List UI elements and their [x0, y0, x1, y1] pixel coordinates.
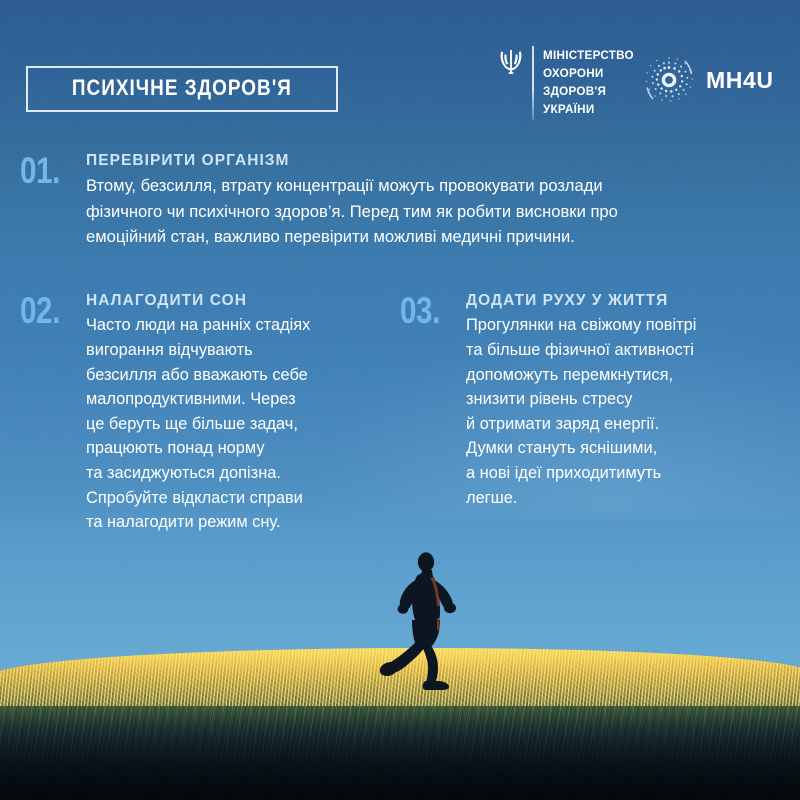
tip-02-line-3: безсилля або вважають себе [86, 363, 392, 388]
tip-03-line-8: легше. [466, 486, 780, 511]
tip-paragraph-01: Втому, безсилля, втрату концентрації мож… [86, 173, 780, 250]
tip-item-02: 02. НАЛАГОДИТИ СОН Часто люди на ранніх … [20, 292, 392, 535]
tip-03-line-4: знизити рівень стресу [466, 387, 780, 412]
tip-body-02: НАЛАГОДИТИ СОН Часто люди на ранніх стад… [86, 292, 392, 535]
tip-number-02: 02. [20, 294, 73, 328]
tip-heading-02: НАЛАГОДИТИ СОН [86, 292, 392, 310]
tip-02-line-8: Спробуйте відкласти справи [86, 486, 392, 511]
tip-02-line-2: вигорання відчувають [86, 338, 392, 363]
tip-03-line-5: й отримати заряд енергії. [466, 412, 780, 437]
tip-02-line-5: це беруть ще більше задач, [86, 412, 392, 437]
tip-02-line-9: та налагодити режим сну. [86, 510, 392, 535]
tip-03-line-1: Прогулянки на свіжому повітрі [466, 313, 780, 338]
tip-02-line-6: працюють понад норму [86, 436, 392, 461]
tip-01-line-3: емоційний стан, важливо перевірити можли… [86, 224, 780, 250]
tip-01-line-2: фізичного чи психічного здоров’я. Перед … [86, 199, 780, 225]
tip-03-line-3: допоможуть перемкнутися, [466, 363, 780, 388]
tip-paragraph-02: Часто люди на ранніх стадіях вигорання в… [86, 313, 392, 534]
tip-body-01: ПЕРЕВІРИТИ ОРГАНІЗМ Втому, безсилля, втр… [86, 152, 780, 250]
tip-02-line-4: малопродуктивними. Через [86, 387, 392, 412]
tip-item-03: 03. ДОДАТИ РУХУ У ЖИТТЯ Прогулянки на св… [400, 292, 780, 510]
tip-03-line-2: та більше фізичної активності [466, 338, 780, 363]
tip-item-01: 01. ПЕРЕВІРИТИ ОРГАНІЗМ Втому, безсилля,… [20, 152, 780, 250]
tip-02-line-1: Часто люди на ранніх стадіях [86, 313, 392, 338]
tip-03-line-6: Думки стануть яснішими, [466, 436, 780, 461]
tip-heading-03: ДОДАТИ РУХУ У ЖИТТЯ [466, 292, 780, 310]
tip-01-line-1: Втому, безсилля, втрату концентрації мож… [86, 173, 780, 199]
tip-paragraph-03: Прогулянки на свіжому повітрі та більше … [466, 313, 780, 510]
tip-number-01: 01. [20, 154, 73, 188]
content-area: 01. ПЕРЕВІРИТИ ОРГАНІЗМ Втому, безсилля,… [0, 0, 800, 800]
tip-03-line-7: а нові ідеї приходитимуть [466, 461, 780, 486]
tip-number-03: 03. [400, 294, 453, 328]
tip-body-03: ДОДАТИ РУХУ У ЖИТТЯ Прогулянки на свіжом… [466, 292, 780, 510]
tip-02-line-7: та засиджуються допізна. [86, 461, 392, 486]
tip-heading-01: ПЕРЕВІРИТИ ОРГАНІЗМ [86, 152, 780, 170]
